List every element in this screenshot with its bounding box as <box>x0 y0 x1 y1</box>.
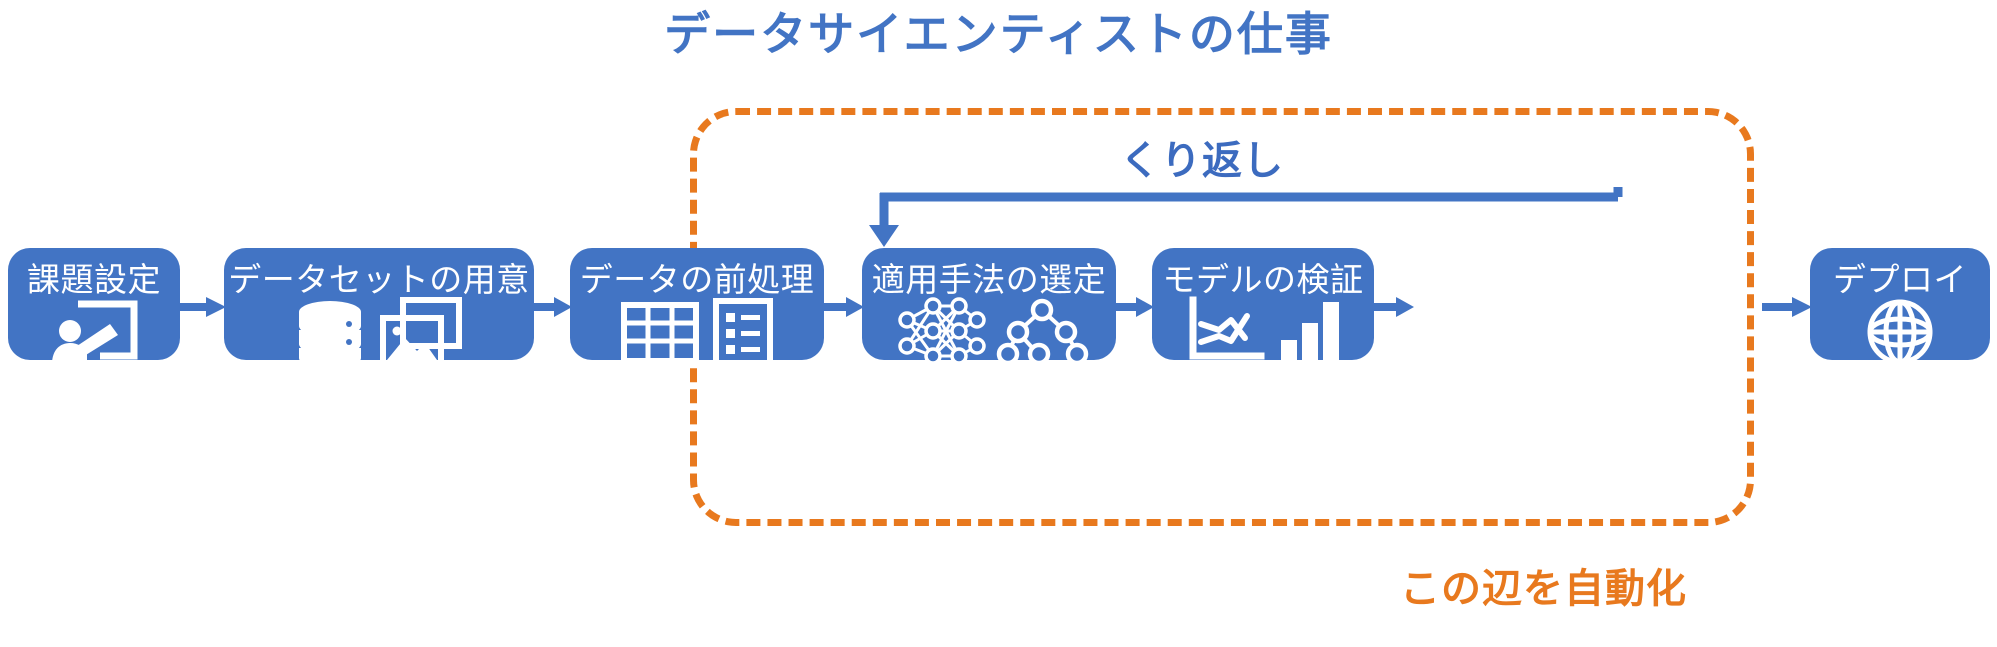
step-label: デプロイ <box>1833 262 1967 298</box>
connector-arrow-2 <box>534 296 572 318</box>
list-form-icon <box>713 298 773 368</box>
database-icon <box>295 300 365 366</box>
step-icon-group <box>570 298 824 368</box>
step-label: データセットの用意 <box>228 262 530 298</box>
step-box-deploy[interactable]: デプロイ <box>1810 248 1990 360</box>
step-box-dataset-youi[interactable]: データセットの用意 <box>224 248 534 360</box>
step-box-tekiyou-shuhou[interactable]: 適用手法の選定 <box>862 248 1116 360</box>
step-label: モデルの検証 <box>1163 262 1364 298</box>
table-grid-icon <box>621 302 699 364</box>
globe-icon <box>1866 298 1934 366</box>
step-icon-group <box>862 298 1116 364</box>
line-chart-icon <box>1185 298 1265 364</box>
step-label: 適用手法の選定 <box>872 262 1107 298</box>
presentation-person-icon <box>48 298 140 364</box>
step-label: 課題設定 <box>27 262 161 298</box>
step-box-kadai-settei[interactable]: 課題設定 <box>8 248 180 360</box>
step-label: データの前処理 <box>580 262 815 298</box>
diagram-canvas: データサイエンティストの仕事 この辺を自動化 くり返し 課題設定 データセット <box>0 0 1997 647</box>
step-icon-group <box>224 298 534 368</box>
page-title: データサイエンティストの仕事 <box>0 8 1997 61</box>
connector-arrow-6 <box>1762 296 1812 318</box>
neural-network-icon <box>893 298 985 364</box>
step-icon-group <box>8 298 180 364</box>
step-box-model-kenshou[interactable]: モデルの検証 <box>1152 248 1374 360</box>
image-stack-icon <box>379 298 463 368</box>
step-box-data-maeshori[interactable]: データの前処理 <box>570 248 824 360</box>
step-icon-group <box>1152 298 1374 364</box>
decision-tree-icon <box>999 298 1085 364</box>
automation-region-caption: この辺を自動化 <box>1400 556 1687 614</box>
connector-arrow-1 <box>180 296 226 318</box>
loop-label: くり返し <box>1120 128 1284 186</box>
step-icon-group <box>1810 298 1990 366</box>
bar-chart-icon <box>1279 298 1341 364</box>
